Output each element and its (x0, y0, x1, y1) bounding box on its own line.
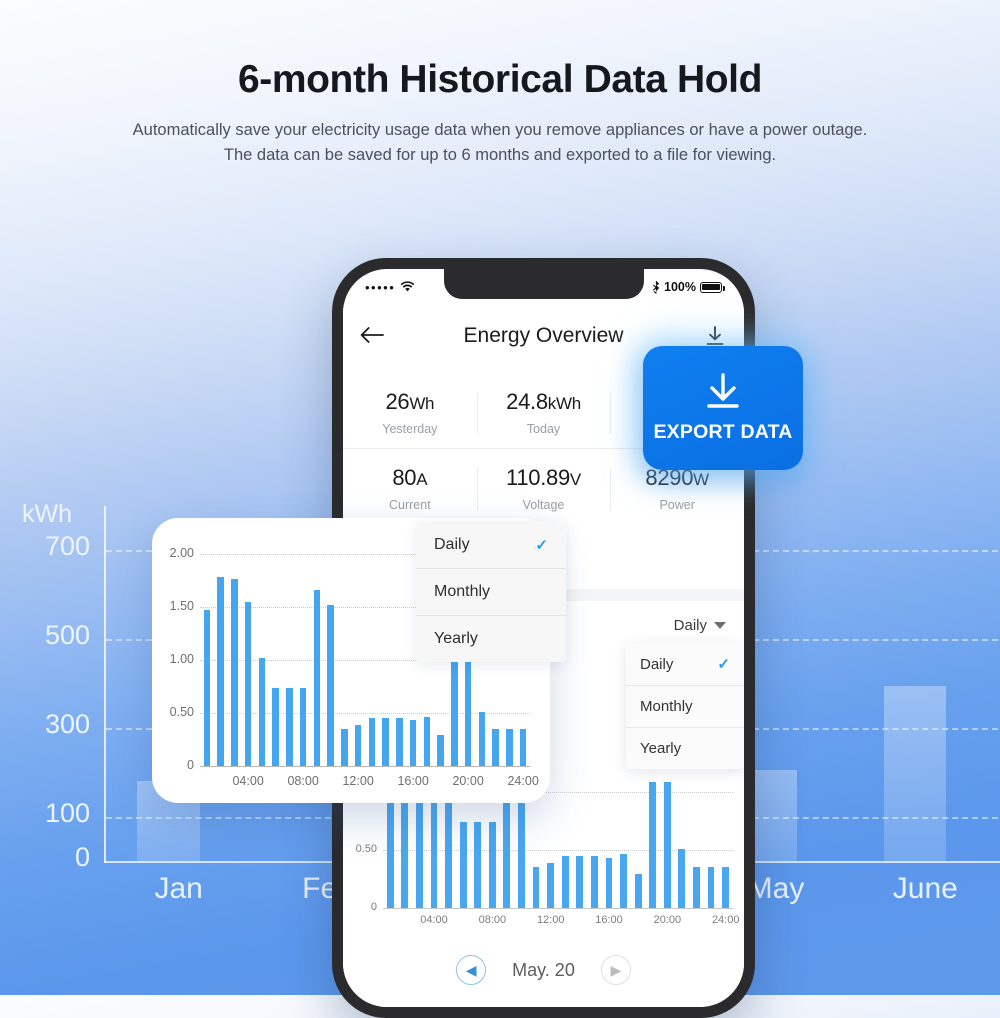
floating-chart-bar (465, 652, 471, 766)
dropdown-item-monthly[interactable]: Monthly (416, 568, 566, 615)
phone-chart-bar (620, 854, 627, 908)
next-date-button[interactable]: ▶ (601, 955, 631, 985)
back-button[interactable] (343, 322, 401, 351)
floating-chart-bar (369, 718, 375, 766)
stat-yesterday: 26Wh Yesterday (343, 373, 477, 448)
stat-unit: Wh (409, 394, 434, 413)
phone-chart-bar (474, 822, 481, 908)
floating-chart-bar (437, 735, 443, 766)
stat-unit: V (570, 470, 581, 489)
stat-label: Power (610, 498, 744, 512)
period-selector[interactable]: Daily (674, 617, 726, 634)
floating-chart-x-tick-label: 16:00 (389, 774, 437, 788)
stat-label: Yesterday (343, 422, 477, 436)
floating-chart-bar (382, 718, 388, 766)
floating-chart-card: 2.001.501.000.500 04:0008:0012:0016:0020… (152, 518, 550, 803)
dropdown-item-monthly[interactable]: Monthly (626, 685, 744, 727)
dropdown-item-daily[interactable]: Daily ✓ (626, 643, 744, 685)
background-y-tick-label: 500 (0, 620, 90, 651)
stat-value: 110.89 (506, 465, 570, 490)
stat-value: 24.8 (506, 389, 548, 414)
download-icon (701, 372, 745, 412)
signal-dots-icon: ••••• (365, 280, 395, 295)
floating-chart-bar (272, 688, 278, 766)
phone-chart-bar (547, 863, 554, 908)
floating-chart-bar (314, 590, 320, 766)
stat-value: 80 (392, 465, 416, 490)
floating-chart-x-axis (200, 766, 530, 767)
floating-card-period-dropdown[interactable]: Daily ✓ Monthly Yearly (416, 522, 566, 662)
phone-chart-x-tick-label: 20:00 (645, 914, 689, 926)
phone-chart-bar (635, 874, 642, 908)
stat-unit: A (416, 470, 427, 489)
floating-chart-bar (231, 579, 237, 766)
battery-percent-label: 100% (664, 280, 696, 294)
floating-chart-bar (410, 720, 416, 766)
dropdown-item-yearly[interactable]: Yearly (626, 727, 744, 769)
phone-chart-bar (460, 822, 467, 908)
phone-notch (444, 269, 644, 299)
prev-date-button[interactable]: ◀ (456, 955, 486, 985)
dropdown-item-label: Yearly (434, 630, 478, 648)
floating-chart-bar (396, 718, 402, 766)
dropdown-item-label: Monthly (434, 583, 490, 601)
floating-chart-bar (300, 688, 306, 766)
floating-chart-bar (479, 712, 485, 766)
page-subtitle-line-2: The data can be saved for up to 6 months… (0, 144, 1000, 167)
check-icon: ✓ (717, 655, 730, 673)
floating-chart-x-tick-label: 04:00 (224, 774, 272, 788)
floating-chart-bar (245, 602, 251, 766)
phone-chart-x-tick-label: 12:00 (529, 914, 573, 926)
export-data-label: EXPORT DATA (653, 421, 792, 444)
floating-chart-y-tick-label: 2.00 (152, 546, 194, 560)
page-subtitle-line-1: Automatically save your electricity usag… (0, 119, 1000, 142)
floating-chart-y-tick-label: 1.50 (152, 599, 194, 613)
chevron-down-icon (714, 622, 726, 629)
phone-chart-y-tick-label: 0.50 (343, 843, 377, 855)
floating-chart-bar (341, 729, 347, 766)
phone-chart-bar (606, 858, 613, 908)
floating-chart-y-tick-label: 1.00 (152, 652, 194, 666)
stat-label: Today (477, 422, 611, 436)
download-button[interactable] (686, 326, 744, 346)
floating-chart-x-tick-label: 24:00 (499, 774, 547, 788)
dropdown-item-label: Monthly (640, 698, 693, 715)
floating-chart-bar (506, 729, 512, 766)
floating-chart-bar (451, 652, 457, 766)
dropdown-item-label: Daily (640, 656, 673, 673)
export-data-button[interactable]: EXPORT DATA (643, 346, 803, 470)
background-month-label: Jan (99, 872, 259, 906)
floating-chart-bar (424, 717, 430, 766)
period-selector-label: Daily (674, 617, 707, 634)
background-month-label: June (845, 872, 1000, 906)
floating-chart-bar (492, 729, 498, 766)
floating-chart-x-tick-label: 20:00 (444, 774, 492, 788)
battery-full-icon (700, 282, 722, 293)
headline-block: 6-month Historical Data Hold Automatical… (0, 58, 1000, 168)
phone-chart-x-tick-label: 16:00 (587, 914, 631, 926)
background-bar (884, 686, 947, 861)
stat-label: Current (343, 498, 477, 512)
floating-chart-y-tick-label: 0 (152, 758, 194, 772)
stat-unit: kWh (548, 394, 581, 413)
phone-chart-bar (678, 849, 685, 908)
page-title: 6-month Historical Data Hold (0, 58, 1000, 103)
phone-chart-x-axis (383, 908, 733, 909)
stat-today: 24.8kWh Today (477, 373, 611, 448)
download-icon (705, 326, 725, 346)
dropdown-item-label: Yearly (640, 740, 681, 757)
phone-chart-bar (693, 867, 700, 908)
background-y-tick-label: 300 (0, 709, 90, 740)
background-chart-unit: kWh (22, 500, 72, 529)
bluetooth-icon (652, 281, 660, 294)
phone-chart-y-tick-label: 0 (343, 901, 377, 913)
phone-chart-bar (489, 822, 496, 908)
date-navigator: ◀ May. 20 ▶ (343, 955, 744, 985)
phone-chart-bar (533, 867, 540, 908)
phone-chart-x-tick-label: 08:00 (470, 914, 514, 926)
dropdown-item-daily[interactable]: Daily ✓ (416, 522, 566, 568)
phone-chart-bar (708, 867, 715, 908)
stat-current: 80A Current (343, 449, 477, 524)
current-date-label: May. 20 (512, 960, 575, 981)
stat-value: 26 (385, 389, 409, 414)
phone-chart-bar (445, 789, 452, 908)
floating-chart-y-tick-label: 0.50 (152, 705, 194, 719)
app-title: Energy Overview (401, 324, 686, 348)
phone-chart-bar (591, 856, 598, 908)
stat-unit: W (693, 470, 709, 489)
floating-chart-bar (204, 610, 210, 766)
floating-chart-bar (259, 658, 265, 766)
background-y-tick-label: 0 (0, 842, 90, 873)
phone-chart-x-tick-label: 24:00 (704, 914, 744, 926)
phone-period-dropdown[interactable]: Daily ✓ Monthly Yearly (626, 643, 744, 769)
phone-chart-bar (562, 856, 569, 908)
floating-chart-bar (520, 729, 526, 766)
background-y-tick-label: 700 (0, 531, 90, 562)
stat-voltage: 110.89V Voltage (477, 449, 611, 524)
phone-chart-bar (664, 782, 671, 908)
floating-chart-bar (217, 577, 223, 766)
dropdown-item-yearly[interactable]: Yearly (416, 615, 566, 662)
check-icon: ✓ (535, 536, 548, 554)
stat-label: Voltage (477, 498, 611, 512)
wifi-icon (400, 281, 415, 293)
phone-chart-bar (722, 867, 729, 908)
floating-chart-x-tick-label: 08:00 (279, 774, 327, 788)
dropdown-item-label: Daily (434, 536, 470, 554)
floating-chart-bar (355, 725, 361, 766)
floating-chart-x-tick-label: 12:00 (334, 774, 382, 788)
background-chart-y-axis (104, 506, 106, 863)
phone-chart-bar (576, 856, 583, 908)
floating-chart-bar (327, 605, 333, 766)
phone-chart-x-tick-label: 04:00 (412, 914, 456, 926)
background-y-tick-label: 100 (0, 798, 90, 829)
phone-chart-bar (649, 782, 656, 908)
floating-chart-bar (286, 688, 292, 766)
